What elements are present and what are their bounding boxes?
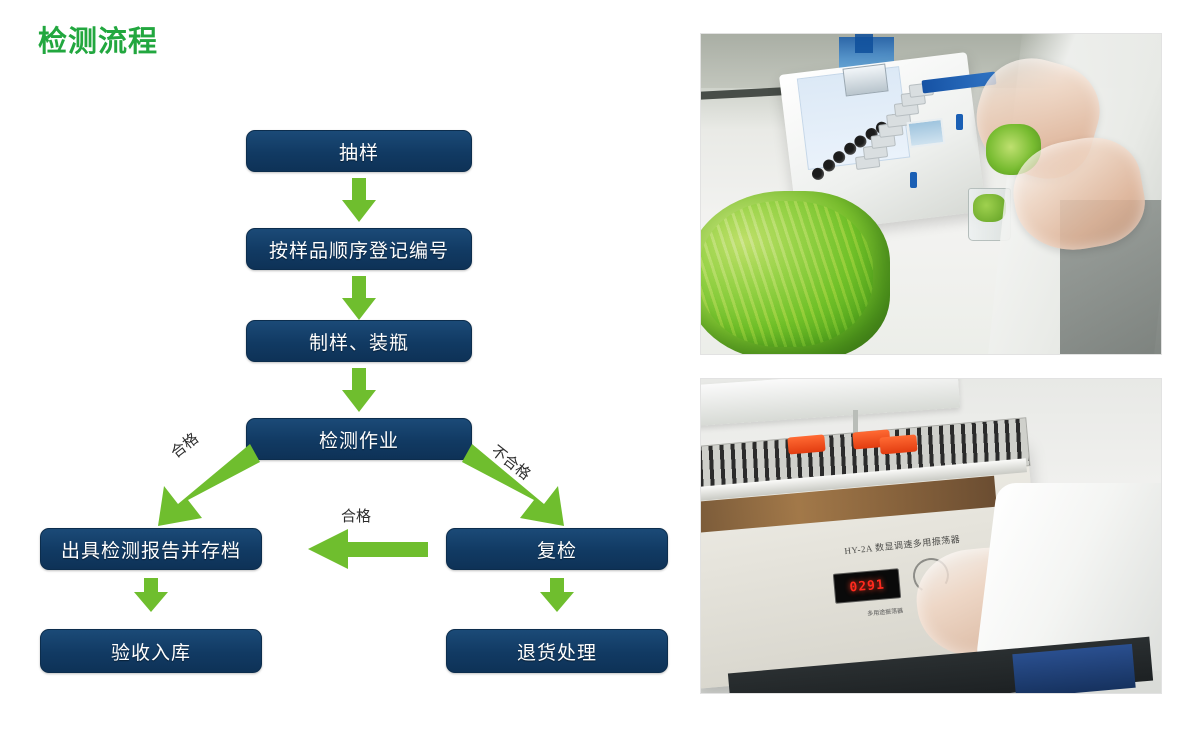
arrow-recheck-to-report: [308, 529, 428, 569]
led-display: 0291: [833, 568, 902, 604]
arrow-register-to-prepare: [342, 276, 376, 320]
arrow-recheck-to-return: [540, 578, 574, 612]
arrow-testing-to-recheck: [462, 440, 592, 530]
flow-node-register[interactable]: 按样品顺序登记编号: [246, 228, 472, 270]
edge-label-pass-middle: 合格: [341, 505, 371, 526]
slide-root: 检测流程 抽样 按样品顺序登记编号 制样、装瓶 检测作业 合格 不合格: [0, 0, 1200, 733]
sample-tube-cap: [880, 434, 918, 454]
arrow-testing-to-report: [130, 440, 260, 530]
sample-tube-cap: [788, 434, 826, 454]
flow-node-testing[interactable]: 检测作业: [246, 418, 472, 460]
flow-node-report[interactable]: 出具检测报告并存档: [40, 528, 262, 570]
arrow-prepare-to-testing: [342, 368, 376, 412]
photo-sample-prep: [700, 33, 1162, 355]
flow-node-return[interactable]: 退货处理: [446, 629, 668, 673]
photo-shaker: HY-2A 数显调速多用振荡器 0291 多用途振荡器: [700, 378, 1162, 694]
arrow-sampling-to-register: [342, 178, 376, 222]
lettuce-sample: [700, 191, 890, 355]
flow-node-recheck[interactable]: 复检: [446, 528, 668, 570]
led-value: 0291: [849, 577, 885, 595]
flow-node-accept[interactable]: 验收入库: [40, 629, 262, 673]
flowchart: 抽样 按样品顺序登记编号 制样、装瓶 检测作业 合格 不合格 出具检测报告并存档…: [0, 0, 700, 733]
flow-node-sampling[interactable]: 抽样: [246, 130, 472, 172]
arrow-report-to-accept: [134, 578, 168, 612]
flow-node-prepare[interactable]: 制样、装瓶: [246, 320, 472, 362]
